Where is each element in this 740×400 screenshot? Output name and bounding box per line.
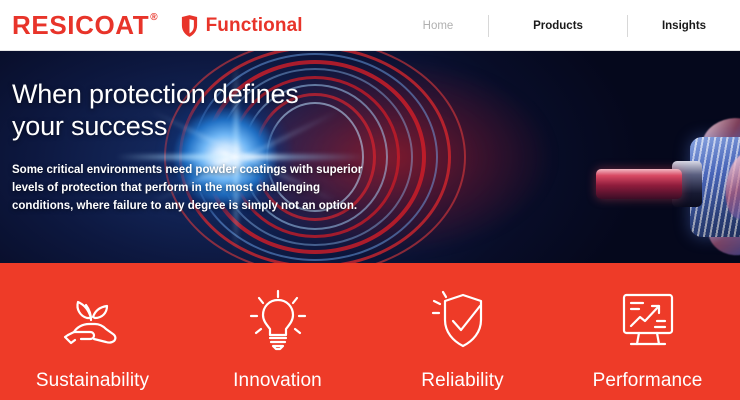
shield-icon: [180, 14, 199, 38]
feature-label-sustainability: Sustainability: [36, 370, 149, 392]
hero-title-line-2: your success: [12, 111, 167, 141]
sub-brand-label: Functional: [206, 15, 303, 37]
feature-performance[interactable]: Performance: [555, 263, 740, 400]
hero-title: When protection defines your success: [12, 79, 392, 143]
logo-wordmark: RESICOAT: [12, 10, 149, 40]
lightbulb-icon: [241, 287, 315, 355]
shield-check-icon: [426, 287, 500, 355]
main-navigation: Home Products Insights: [388, 0, 740, 51]
functional-sub-brand[interactable]: Functional: [180, 14, 303, 38]
hero-description: Some critical environments need powder c…: [12, 161, 370, 215]
brand-lockup[interactable]: RESICOAT® Functional: [0, 12, 303, 39]
motor-rotor-graphic: [586, 113, 740, 263]
feature-label-reliability: Reliability: [421, 370, 503, 392]
feature-innovation[interactable]: Innovation: [185, 263, 370, 400]
hand-holding-plant-icon: [56, 287, 130, 355]
hero-title-line-1: When protection defines: [12, 79, 299, 109]
nav-item-products[interactable]: Products: [489, 20, 627, 32]
rotor-shaft: [596, 169, 682, 199]
feature-sustainability[interactable]: Sustainability: [0, 263, 185, 400]
feature-band: Sustainability Innovation: [0, 263, 740, 400]
hero-banner: When protection defines your success Som…: [0, 51, 740, 263]
hero-copy-block: When protection defines your success Som…: [12, 79, 392, 215]
feature-label-performance: Performance: [593, 370, 703, 392]
feature-label-innovation: Innovation: [233, 370, 322, 392]
resicoat-logo[interactable]: RESICOAT®: [12, 12, 158, 39]
monitor-chart-icon: [611, 287, 685, 355]
page-root: RESICOAT® Functional Home Products Insig…: [0, 0, 740, 400]
registered-trademark-icon: ®: [150, 12, 157, 23]
feature-reliability[interactable]: Reliability: [370, 263, 555, 400]
site-header: RESICOAT® Functional Home Products Insig…: [0, 0, 740, 51]
nav-item-insights[interactable]: Insights: [628, 20, 740, 32]
nav-item-home[interactable]: Home: [388, 20, 488, 32]
